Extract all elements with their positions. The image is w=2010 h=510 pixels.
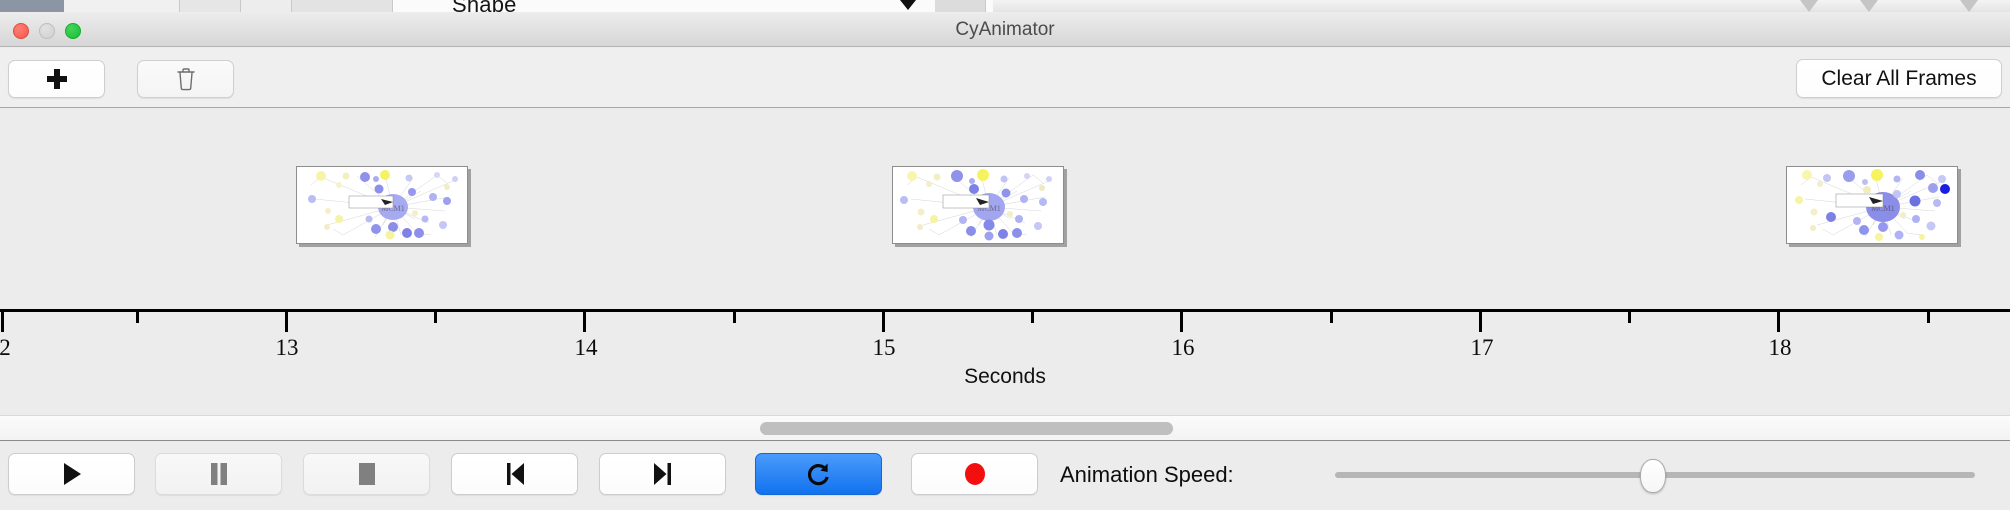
axis-tick-minor xyxy=(1330,312,1333,323)
skip-to-start-icon xyxy=(504,462,526,486)
background-window-cursor-icon xyxy=(900,0,916,10)
pause-icon xyxy=(209,462,229,486)
slider-thumb[interactable] xyxy=(1640,459,1666,493)
window-titlebar: CyAnimator xyxy=(0,12,2010,47)
background-window-label: Shape xyxy=(452,0,517,12)
transport-bar: Animation Speed: xyxy=(0,442,2010,510)
axis-tick-label: 14 xyxy=(575,335,598,361)
cyanimator-window: Shape CyAnimator Clear All Frames xyxy=(0,0,2010,510)
axis-title: Seconds xyxy=(0,365,2010,389)
axis-tick-label: 18 xyxy=(1769,335,1792,361)
animation-speed-slider[interactable] xyxy=(1335,472,1975,478)
toolbar: Clear All Frames xyxy=(0,48,2010,108)
loop-button[interactable] xyxy=(755,453,882,495)
network-thumbnail-graphic: MCM1 xyxy=(893,167,1063,243)
skip-to-start-button[interactable] xyxy=(451,453,578,495)
plus-icon xyxy=(47,69,67,89)
animation-speed-label: Animation Speed: xyxy=(1060,462,1234,488)
pause-button[interactable] xyxy=(155,453,282,495)
background-window-dark-chip xyxy=(0,0,64,12)
background-window-chip xyxy=(935,0,986,12)
background-window-chip xyxy=(241,0,292,12)
play-button[interactable] xyxy=(8,453,135,495)
clear-all-frames-label: Clear All Frames xyxy=(1821,67,1976,91)
axis-tick-major xyxy=(1777,312,1780,332)
background-window-chip xyxy=(292,0,393,12)
axis-tick-label: 2 xyxy=(0,335,11,361)
axis-tick-minor xyxy=(733,312,736,323)
axis-tick-label: 17 xyxy=(1471,335,1494,361)
axis-tick-minor xyxy=(1927,312,1930,323)
background-window-triangle-icon xyxy=(1860,0,1878,12)
timeline-horizontal-scrollbar[interactable] xyxy=(0,415,2010,441)
frame-thumbnail[interactable]: MCM1 xyxy=(1786,166,1958,244)
axis-tick-minor xyxy=(136,312,139,323)
record-icon xyxy=(962,461,988,487)
axis-tick-minor xyxy=(1628,312,1631,323)
axis-tick-label: 13 xyxy=(276,335,299,361)
axis-tick-minor xyxy=(1031,312,1034,323)
record-button[interactable] xyxy=(911,453,1038,495)
axis-tick-major xyxy=(1479,312,1482,332)
background-window-sliver: Shape xyxy=(0,0,2010,12)
network-thumbnail-graphic: MCM1 xyxy=(1787,167,1957,243)
axis-tick-major xyxy=(1,312,4,332)
background-window-chip xyxy=(180,0,241,12)
skip-to-end-icon xyxy=(652,462,674,486)
axis-tick-major xyxy=(583,312,586,332)
trash-icon xyxy=(176,67,196,91)
stop-button[interactable] xyxy=(303,453,430,495)
clear-all-frames-button[interactable]: Clear All Frames xyxy=(1796,59,2002,98)
window-title: CyAnimator xyxy=(0,19,2010,41)
background-window-triangle-icon xyxy=(1960,0,1978,12)
axis-tick-label: 15 xyxy=(873,335,896,361)
axis-tick-major xyxy=(285,312,288,332)
add-frame-button[interactable] xyxy=(8,60,105,98)
network-thumbnail-graphic: MCM1 xyxy=(297,167,467,243)
stop-icon xyxy=(356,462,378,486)
play-icon xyxy=(61,462,83,486)
scrollbar-thumb[interactable] xyxy=(760,422,1173,435)
frame-thumbnail[interactable]: MCM1 xyxy=(892,166,1064,244)
skip-to-end-button[interactable] xyxy=(599,453,726,495)
axis-tick-label: 16 xyxy=(1172,335,1195,361)
axis-tick-minor xyxy=(434,312,437,323)
timeline-axis-line xyxy=(0,309,2010,312)
delete-frame-button[interactable] xyxy=(137,60,234,98)
background-window-chip xyxy=(64,0,180,12)
background-window-triangle-icon xyxy=(1800,0,1818,12)
axis-tick-major xyxy=(1180,312,1183,332)
frame-thumbnail[interactable]: MCM1 xyxy=(296,166,468,244)
axis-tick-major xyxy=(882,312,885,332)
loop-icon xyxy=(806,461,832,487)
timeline-panel[interactable]: MCM1 xyxy=(0,109,2010,415)
